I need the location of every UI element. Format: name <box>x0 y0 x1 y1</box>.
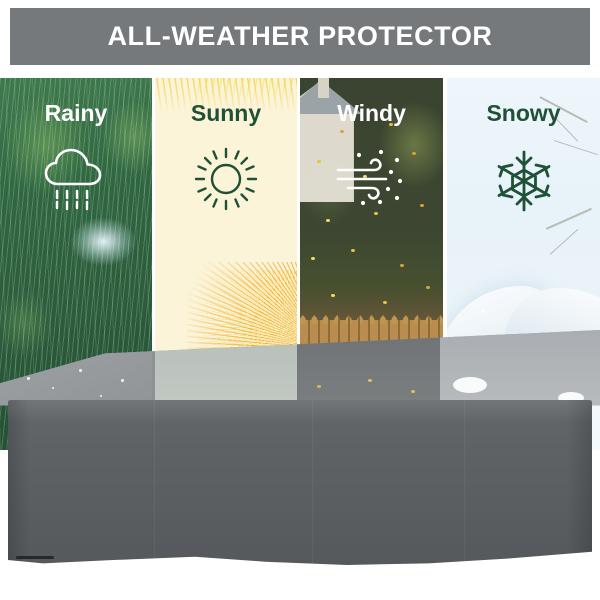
cover-right-edge-shadow <box>566 400 592 565</box>
banner: ALL-WEATHER PROTECTOR <box>10 8 590 65</box>
cover-fold-line <box>154 400 155 565</box>
cover-hem-strap <box>16 556 54 559</box>
weather-label-snowy: Snowy <box>447 100 600 127</box>
cover-fold-line <box>464 400 465 565</box>
weather-label-rainy: Rainy <box>0 100 152 127</box>
outdoor-furniture-cover <box>0 330 600 600</box>
weather-label-sunny: Sunny <box>155 100 297 127</box>
snowflake-icon <box>490 146 558 221</box>
cover-left-edge-shadow <box>8 400 30 565</box>
weather-label-windy: Windy <box>300 100 443 127</box>
cover-front-panel <box>8 400 592 565</box>
cloud-rain-icon <box>41 146 111 219</box>
cover-fold-line <box>312 400 313 565</box>
wind-icon <box>334 146 410 213</box>
product-feature-image: ALL-WEATHER PROTECTOR Rainy <box>0 0 600 600</box>
cover-hem-strap <box>184 560 218 563</box>
cover-front-highlight <box>8 400 592 422</box>
banner-title: ALL-WEATHER PROTECTOR <box>107 21 492 52</box>
cover-hem-strap <box>546 557 582 560</box>
sun-icon <box>193 146 259 217</box>
